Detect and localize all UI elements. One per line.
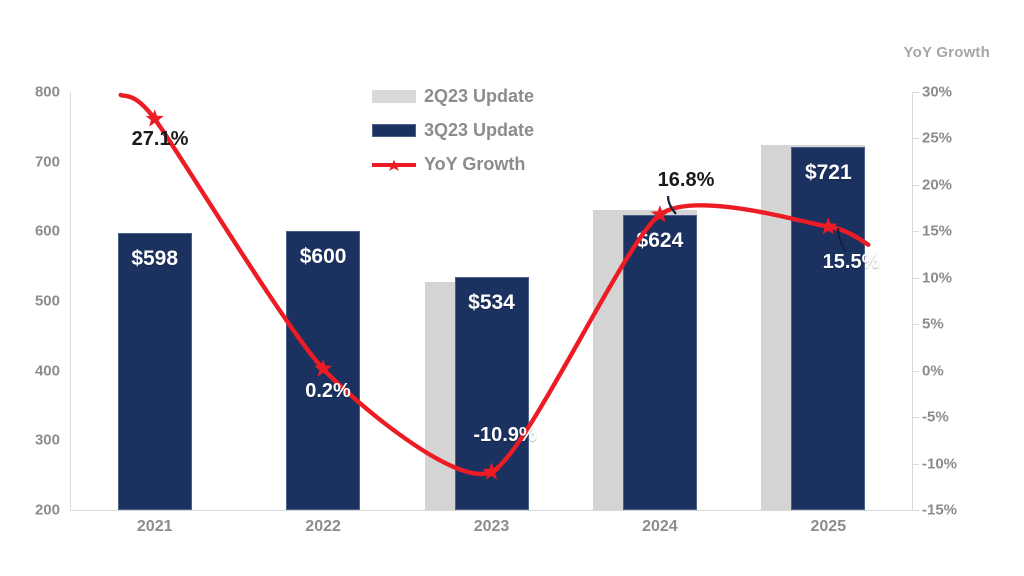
left-axis-tick-label: 600	[8, 223, 60, 240]
right-axis-tick	[913, 510, 919, 511]
right-axis-tick-label: 0%	[922, 362, 982, 379]
right-axis-tick-label: -5%	[922, 409, 982, 426]
legend-swatch-yoy-growth	[372, 158, 416, 171]
growth-label-2024: 16.8%	[658, 169, 715, 192]
right-axis-tick-label: -15%	[922, 502, 982, 519]
right-axis-tick-label: 30%	[922, 84, 982, 101]
bottom-axis-line	[70, 510, 913, 511]
category-label-2022: 2022	[278, 518, 368, 536]
legend-item-2q23-update[interactable]: 2Q23 Update	[372, 86, 534, 107]
legend-item-3q23-update[interactable]: 3Q23 Update	[372, 120, 534, 141]
bar-3q23-2022[interactable]	[286, 231, 360, 510]
right-axis-tick-label: 15%	[922, 223, 982, 240]
legend-label-2q23-update: 2Q23 Update	[424, 86, 534, 107]
right-axis-tick-label: 5%	[922, 316, 982, 333]
right-axis-tick	[913, 371, 919, 372]
right-axis-tick	[913, 278, 919, 279]
right-axis-tick	[913, 92, 919, 93]
left-axis-line	[70, 92, 71, 510]
legend-label-3q23-update: 3Q23 Update	[424, 120, 534, 141]
right-axis-tick-label: 25%	[922, 130, 982, 147]
right-axis-tick	[913, 185, 919, 186]
line-marker-2021[interactable]	[146, 109, 164, 126]
right-axis-tick	[913, 231, 919, 232]
chart-canvas: YoY Growth 200300400500600700800 -15%-10…	[0, 0, 1024, 576]
legend-label-yoy-growth: YoY Growth	[424, 154, 525, 175]
right-axis-tick-label: -10%	[922, 455, 982, 472]
secondary-axis-title: YoY Growth	[904, 44, 990, 61]
bar-value-label-2022: $600	[300, 245, 347, 269]
right-axis-tick	[913, 138, 919, 139]
right-axis-tick-label: 20%	[922, 176, 982, 193]
growth-label-2023: -10.9%	[473, 424, 536, 447]
category-label-2024: 2024	[615, 518, 705, 536]
bar-value-label-2021: $598	[131, 247, 178, 271]
bar-3q23-2024[interactable]	[623, 215, 697, 510]
legend-swatch-2q23-update	[372, 90, 416, 103]
legend-item-yoy-growth[interactable]: YoY Growth	[372, 154, 534, 175]
legend-swatch-3q23-update	[372, 124, 416, 137]
star-marker-icon	[372, 158, 416, 171]
right-axis-tick	[913, 464, 919, 465]
bar-value-label-2024: $624	[637, 229, 684, 253]
bar-3q23-2025[interactable]	[791, 147, 865, 510]
category-label-2025: 2025	[783, 518, 873, 536]
growth-label-2025: 15.5%	[823, 251, 880, 274]
bar-value-label-2025: $721	[805, 161, 852, 185]
growth-label-2022: 0.2%	[305, 380, 351, 403]
left-axis-tick-label: 200	[8, 502, 60, 519]
left-axis-tick-label: 400	[8, 362, 60, 379]
right-axis-tick	[913, 324, 919, 325]
right-axis-line	[912, 92, 913, 510]
growth-label-2021: 27.1%	[132, 128, 189, 151]
bar-value-label-2023: $534	[468, 291, 515, 315]
right-axis-tick	[913, 417, 919, 418]
left-axis-tick-label: 500	[8, 293, 60, 310]
left-axis-tick-label: 300	[8, 432, 60, 449]
right-axis-tick-label: 10%	[922, 269, 982, 286]
left-axis-tick-label: 800	[8, 84, 60, 101]
category-label-2021: 2021	[110, 518, 200, 536]
legend: 2Q23 Update 3Q23 Update YoY Growth	[372, 86, 534, 175]
category-label-2023: 2023	[447, 518, 537, 536]
bar-3q23-2021[interactable]	[118, 233, 192, 510]
left-axis-tick-label: 700	[8, 153, 60, 170]
